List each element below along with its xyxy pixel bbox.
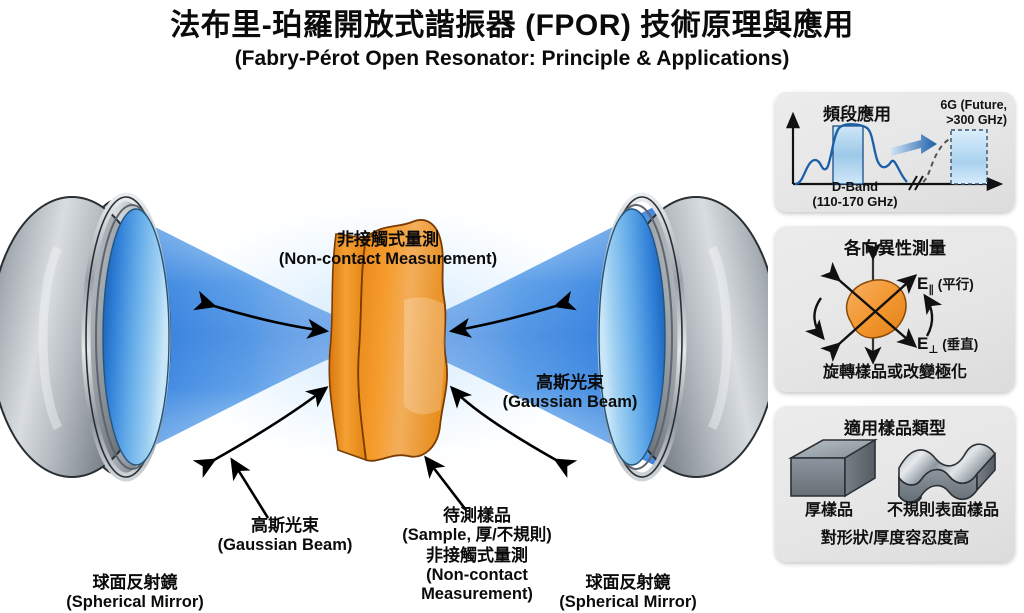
label-sample-line2: (Sample, 厚/不規則) [372,526,582,545]
label-gaussian-left-en: (Gaussian Beam) [185,536,385,555]
label-sample-line3: 非接觸式量測 [372,546,582,566]
label-dband: D-Band (110-170 GHz) [785,180,925,209]
label-noncontact-zh: 非接觸式量測 [228,230,548,250]
title-chinese: 法布里-珀羅開放式諧振器 (FPOR) 技術原理與應用 [0,8,1024,45]
label-mirror-right-en: (Spherical Mirror) [508,593,748,612]
spherical-mirror-left [0,197,170,477]
dband-highlight [833,126,863,184]
resonator-svg [0,88,768,572]
label-6g: 6G (Future, >300 GHz) [775,98,1015,128]
title-english: (Fabry-Pérot Open Resonator: Principle &… [0,46,1024,72]
e-perp-note: (垂直) [942,337,978,352]
panel-frequency-band: 頻段應用 [775,92,1015,212]
label-gaussian-beam-right: 高斯光束 (Gaussian Beam) [470,373,670,413]
label-mirror-left-en: (Spherical Mirror) [20,593,250,612]
label-6g-line1: 6G (Future, [940,98,1007,112]
label-6g-line2: >300 GHz) [946,113,1007,127]
leader-gaussian-left [232,460,268,518]
anisotropy-caption: 旋轉樣品或改變極化 [775,364,1015,382]
label-spherical-mirror-left: 球面反射鏡 (Spherical Mirror) [20,573,250,613]
label-noncontact-en: (Non-contact Measurement) [228,250,548,269]
sixg-highlight [951,130,987,184]
e-perp-symbol: E [917,334,928,353]
label-gaussian-right-en: (Gaussian Beam) [470,393,670,412]
label-thick-sample: 厚樣品 [783,502,875,520]
thick-sample-icon [791,440,875,496]
label-dband-line2: (110-170 GHz) [812,194,897,209]
e-perp-subscript: ⊥ [928,344,938,356]
rotation-arc-left [814,298,823,338]
label-mirror-left-zh: 球面反射鏡 [20,573,250,593]
panel-anisotropy: 各向異性測量 E∥ [775,226,1015,392]
label-e-perpendicular: E⊥ (垂直) [917,334,1013,356]
label-irregular-sample: 不規則表面樣品 [875,502,1011,520]
resonator-diagram: 非接觸式量測 (Non-contact Measurement) 高斯光束 (G… [0,88,768,572]
label-dband-line1: D-Band [832,179,878,194]
label-spherical-mirror-right: 球面反射鏡 (Spherical Mirror) [508,573,748,613]
label-gaussian-left-zh: 高斯光束 [185,516,385,536]
e-parallel-subscript: ∥ [928,284,934,296]
spherical-mirror-right [599,197,768,477]
poster-root: 法布里-珀羅開放式諧振器 (FPOR) 技術原理與應用 (Fabry-Pérot… [0,0,1024,572]
progression-arrow [891,134,937,156]
panel-sample-types: 適用樣品類型 [775,406,1015,562]
label-mirror-right-zh: 球面反射鏡 [508,573,748,593]
rotation-arc-right [925,296,932,336]
label-gaussian-beam-left: 高斯光束 (Gaussian Beam) [185,516,385,556]
sample-types-caption: 對形狀/厚度容忍度高 [775,530,1015,548]
e-parallel-symbol: E [917,274,928,293]
label-gaussian-right-zh: 高斯光束 [470,373,670,393]
label-sample-line1: 待測樣品 [372,506,582,526]
irregular-sample-icon [899,444,995,503]
page-title: 法布里-珀羅開放式諧振器 (FPOR) 技術原理與應用 (Fabry-Pérot… [0,8,1024,72]
e-parallel-note: (平行) [938,277,974,292]
label-e-parallel: E∥ (平行) [917,274,1013,296]
label-noncontact-measurement: 非接觸式量測 (Non-contact Measurement) [228,230,548,270]
